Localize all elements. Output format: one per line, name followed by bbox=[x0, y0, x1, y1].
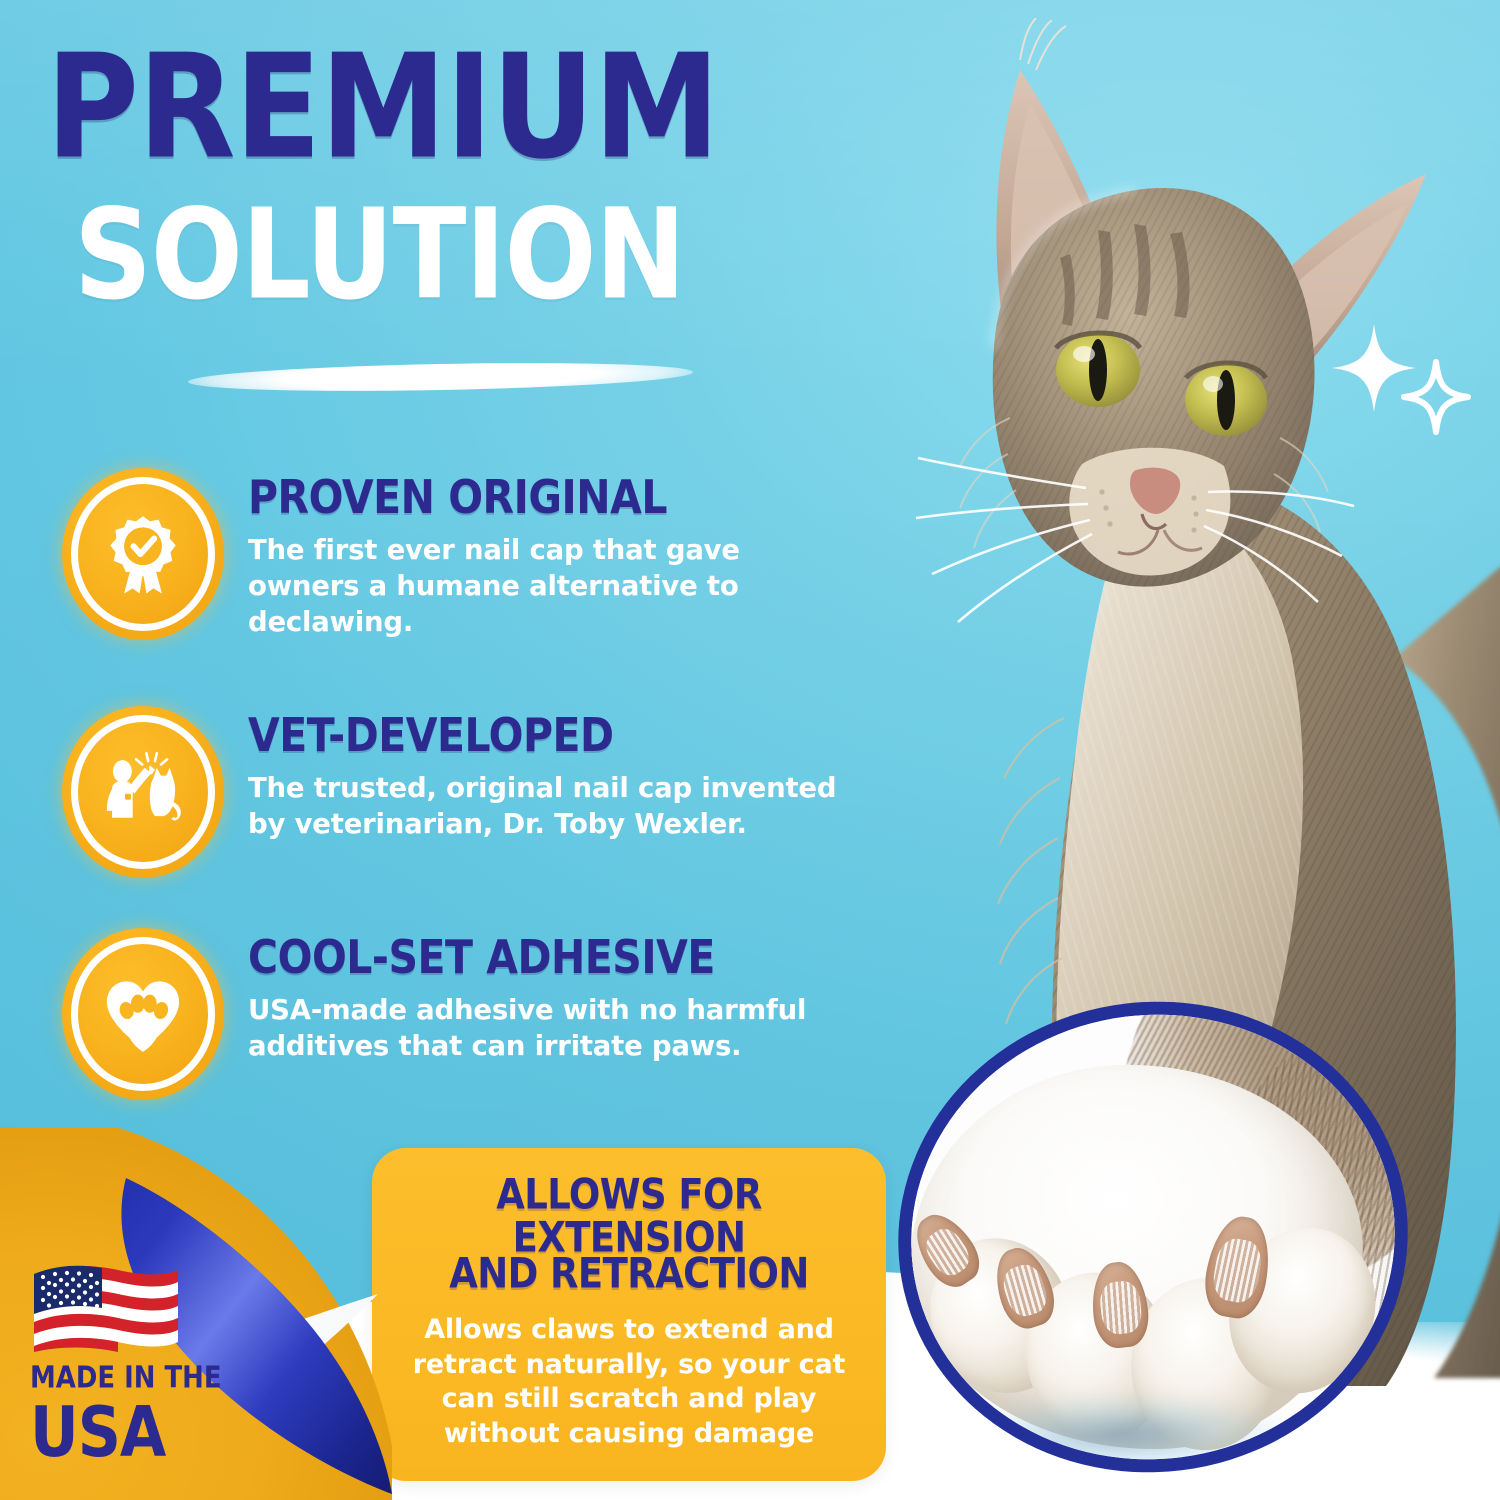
feature-text-block: COOL-SET ADHESIVE USA-made adhesive with… bbox=[248, 928, 848, 1065]
award-ribbon-icon bbox=[62, 468, 224, 640]
callout-title-line-2: AND RETRACTION bbox=[396, 1253, 862, 1295]
feature-title: VET-DEVELOPED bbox=[248, 712, 848, 759]
feature-body: USA-made adhesive with no harmful additi… bbox=[248, 993, 848, 1065]
feature-title: COOL-SET ADHESIVE bbox=[248, 934, 848, 981]
made-in-usa-line-1: MADE IN THE bbox=[30, 1363, 270, 1393]
feature-body: The trusted, original nail cap invented … bbox=[248, 771, 848, 843]
paw-inset-image bbox=[877, 984, 1429, 1490]
made-in-usa-line-2: USA bbox=[30, 1398, 280, 1468]
cat-paw-with-nail-caps-closeup bbox=[871, 973, 1434, 1500]
infographic-canvas: PREMIUM SOLUTION PROVEN ORIGINAL The fir… bbox=[0, 0, 1500, 1500]
headline-line-solution: SOLUTION bbox=[74, 204, 877, 306]
page-title: PREMIUM SOLUTION bbox=[46, 48, 846, 289]
heart-paw-icon bbox=[62, 928, 224, 1100]
feature-row-cool-set-adhesive: COOL-SET ADHESIVE USA-made adhesive with… bbox=[62, 928, 852, 1100]
callout-body: Allows claws to extend and retract natur… bbox=[402, 1313, 856, 1451]
feature-title: PROVEN ORIGINAL bbox=[248, 474, 848, 521]
feature-text-block: VET-DEVELOPED The trusted, original nail… bbox=[248, 706, 848, 843]
made-in-usa-text: MADE IN THE USA bbox=[30, 1363, 280, 1458]
feature-row-proven-original: PROVEN ORIGINAL The first ever nail cap … bbox=[62, 468, 852, 640]
callout-title-line-1: ALLOWS FOR EXTENSION bbox=[396, 1174, 862, 1259]
extension-retraction-callout: ALLOWS FOR EXTENSION AND RETRACTION Allo… bbox=[372, 1148, 886, 1481]
feature-body: The first ever nail cap that gave owners… bbox=[248, 533, 848, 640]
vet-high-five-cat-icon bbox=[62, 706, 224, 878]
usa-flag-icon bbox=[32, 1260, 180, 1352]
headline-line-premium: PREMIUM bbox=[46, 48, 878, 166]
made-in-usa-corner: MADE IN THE USA bbox=[0, 1128, 392, 1500]
feature-row-vet-developed: VET-DEVELOPED The trusted, original nail… bbox=[62, 706, 852, 878]
feature-text-block: PROVEN ORIGINAL The first ever nail cap … bbox=[248, 468, 848, 640]
sparkle-star-group bbox=[1328, 318, 1478, 438]
